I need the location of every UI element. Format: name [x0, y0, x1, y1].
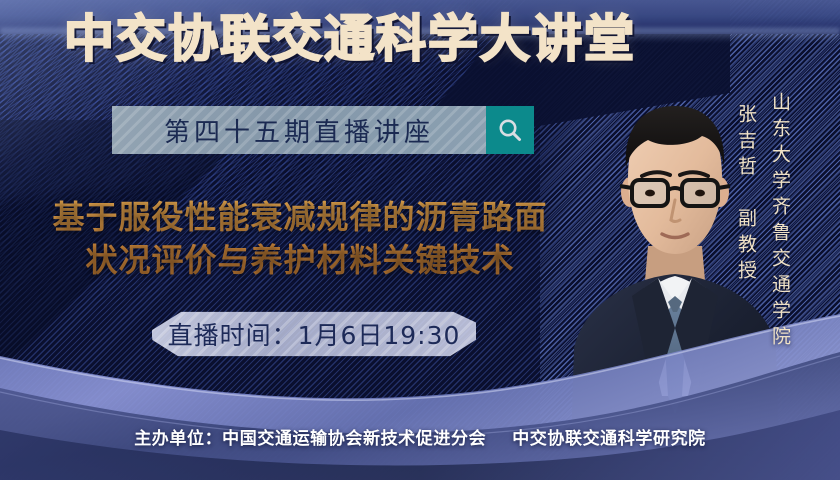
broadcast-time-pill: 直播时间：1月6日19:30 [152, 310, 476, 358]
footer-organizer: 主办单位：中国交通运输协会新技术促进分会 [134, 429, 486, 449]
live-lecture-poster: 中交协联交通科学大讲堂 第四十五期直播讲座 基于服役性能衰减规律的沥青路面 状况… [0, 0, 840, 480]
headline-line-1: 基于服役性能衰减规律的沥青路面 [26, 196, 574, 239]
search-icon [497, 117, 523, 143]
speaker-name-title: 张吉哲 副教授 [733, 104, 760, 286]
footer-institute: 中交协联交通科学研究院 [512, 429, 706, 449]
poster-title: 中交协联交通科学大讲堂 [0, 14, 700, 64]
search-icon-box[interactable] [486, 106, 534, 154]
episode-label: 第四十五期直播讲座 [164, 112, 434, 149]
lecture-headline: 基于服役性能衰减规律的沥青路面 状况评价与养护材料关键技术 [26, 196, 574, 282]
episode-banner: 第四十五期直播讲座 [112, 106, 534, 154]
headline-line-2: 状况评价与养护材料关键技术 [26, 239, 574, 282]
broadcast-time-label: 直播时间：1月6日19:30 [168, 316, 461, 352]
episode-banner-body: 第四十五期直播讲座 [112, 106, 486, 154]
speaker-organization: 山东大学齐鲁交通学院 [767, 92, 794, 352]
footer-credits: 主办单位：中国交通运输协会新技术促进分会中交协联交通科学研究院 [0, 424, 840, 449]
